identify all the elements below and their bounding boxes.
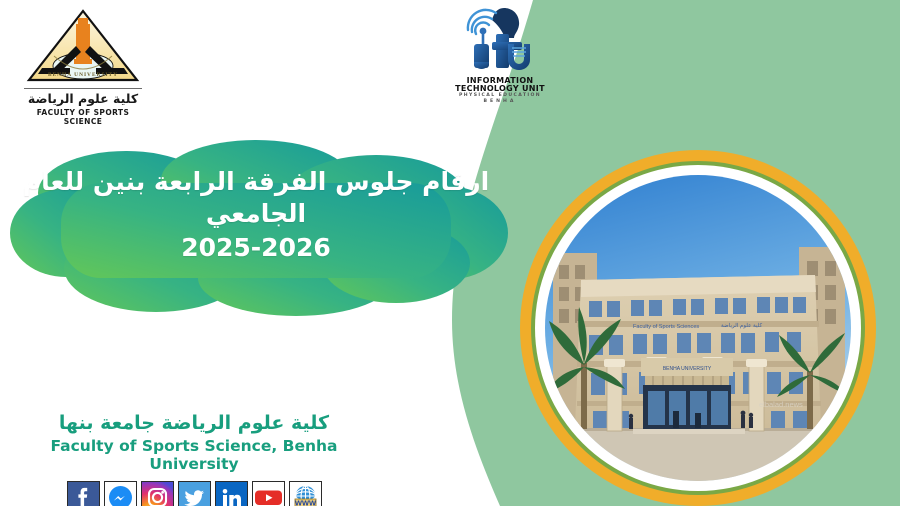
messenger-icon[interactable]	[104, 481, 137, 506]
faculty-building-photo: Faculty of Sports Sciences كلية علوم الر…	[545, 175, 851, 481]
pyramid-obelisk-crest-icon: BENHA UNIVERSITY	[24, 8, 142, 86]
faculty-building-photo-frame: Faculty of Sports Sciences كلية علوم الر…	[520, 150, 876, 506]
instagram-icon[interactable]	[141, 481, 174, 506]
footer-arabic-title: كلية علوم الرياضة جامعة بنها	[18, 412, 370, 435]
twitter-icon[interactable]	[178, 481, 211, 506]
it-fingerprint-head-icon	[448, 4, 552, 76]
university-logo: BENHA UNIVERSITY كلية علوم الرياضة FACUL…	[18, 8, 148, 126]
university-logo-arabic-label: كلية علوم الرياضة	[18, 92, 148, 106]
headline-line1: ارقام جلوس الفرقة الرابعة بنين	[93, 167, 489, 196]
svg-text:WWW: WWW	[295, 499, 316, 506]
social-links: WWW	[18, 481, 370, 506]
footer-block: كلية علوم الرياضة جامعة بنها Faculty of …	[18, 412, 370, 506]
svg-text:BENHA UNIVERSITY: BENHA UNIVERSITY	[48, 72, 118, 78]
logo-divider	[24, 88, 142, 89]
headline-text: ارقام جلوس الفرقة الرابعة بنين للعام الج…	[6, 166, 506, 264]
it-logo-line2: PHYSICAL EDUCATION	[448, 94, 552, 99]
poster-canvas: BENHA UNIVERSITY كلية علوم الرياضة FACUL…	[0, 0, 900, 506]
svg-text:Faculty of Sports Sciences: Faculty of Sports Sciences	[633, 324, 699, 330]
photo-watermark: elbalad.news	[759, 400, 803, 409]
youtube-icon[interactable]	[252, 481, 285, 506]
footer-english-title: Faculty of Sports Science, Benha Univers…	[18, 437, 370, 474]
svg-text:كلية علوم الرياضة: كلية علوم الرياضة	[721, 322, 763, 329]
it-logo-line1: INFORMATION TECHNOLOGY UNIT	[448, 77, 552, 93]
headline-year: 2025-2026	[6, 232, 506, 264]
it-logo-line3: BENHA	[448, 100, 552, 105]
headline-cloud: ارقام جلوس الفرقة الرابعة بنين للعام الج…	[6, 138, 516, 318]
it-unit-logo: INFORMATION TECHNOLOGY UNIT PHYSICAL EDU…	[448, 4, 552, 104]
linkedin-icon[interactable]	[215, 481, 248, 506]
university-logo-english-label: FACULTY OF SPORTS SCIENCE	[18, 108, 148, 126]
website-icon[interactable]: WWW	[289, 481, 322, 506]
svg-text:BENHA UNIVERSITY: BENHA UNIVERSITY	[663, 366, 712, 372]
facebook-icon[interactable]	[67, 481, 100, 506]
